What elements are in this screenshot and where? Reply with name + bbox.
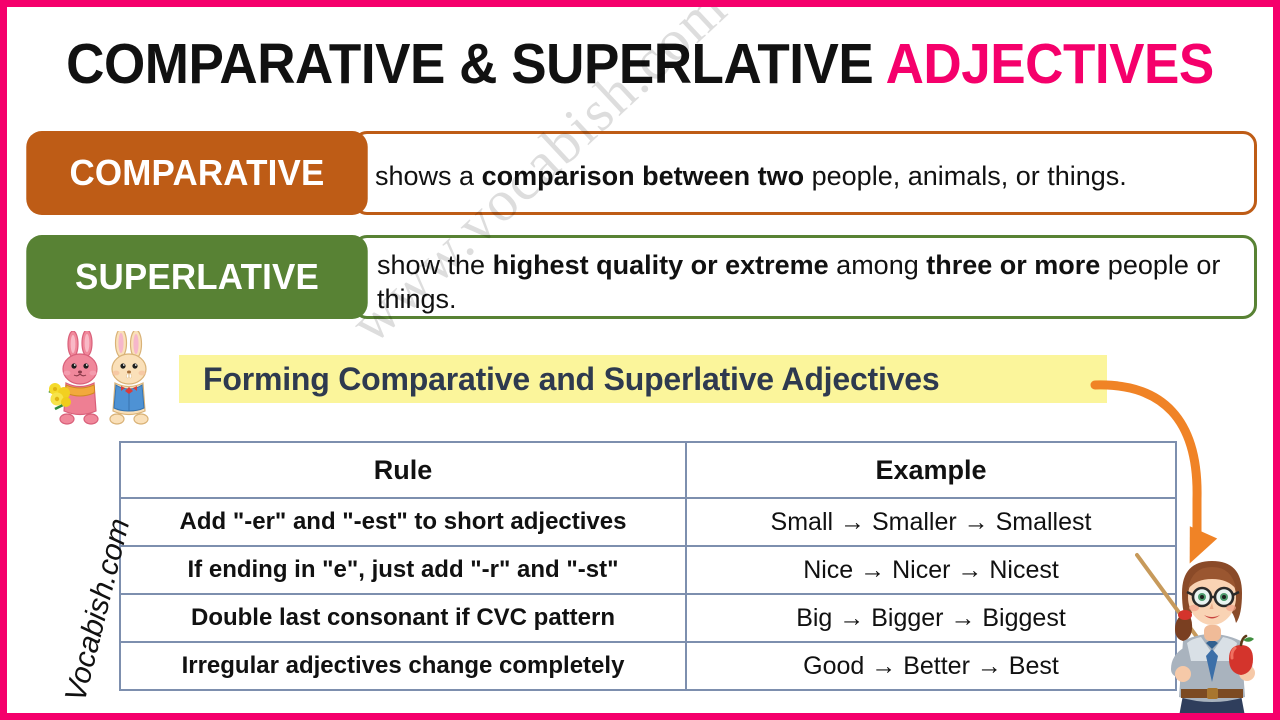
table-row: Double last consonant if CVC pattern Big… [120,594,1176,642]
rule-cell: If ending in "e", just add "-r" and "-st… [120,546,686,594]
rule-cell: Double last consonant if CVC pattern [120,594,686,642]
superlative-text-mid: among [829,250,927,280]
superlative-text-lead: show the [377,250,493,280]
infographic-page: www.vocabish.com Vocabish.com COMPARATIV… [0,0,1280,720]
title-part-accent: ADJECTIVES [886,32,1214,96]
badge-superlative: SUPERLATIVE [26,235,367,319]
definition-row-comparative: COMPARATIVE shows a comparison between t… [21,131,1257,215]
table-row: Irregular adjectives change completely G… [120,642,1176,690]
example-cell: Good → Better → Best [686,642,1176,690]
definition-row-superlative: SUPERLATIVE show the highest quality or … [21,235,1257,319]
table-header-row: Rule Example [120,442,1176,498]
section-heading: Forming Comparative and Superlative Adje… [179,355,1107,403]
column-header-rule: Rule [120,442,686,498]
rule-cell: Add "-er" and "-est" to short adjectives [120,498,686,546]
superlative-text-bold: highest quality or extreme [493,250,829,280]
example-cell: Big → Bigger → Biggest [686,594,1176,642]
comparative-text-bold: comparison between two [482,161,805,191]
table-row: Add "-er" and "-est" to short adjectives… [120,498,1176,546]
section-heading-label: Forming Comparative and Superlative Adje… [203,361,940,398]
two-rabbits-illustration [43,331,161,427]
rules-table: Rule Example Add "-er" and "-est" to sho… [119,441,1177,691]
table-row: If ending in "e", just add "-r" and "-st… [120,546,1176,594]
definition-text-comparative: shows a comparison between two people, a… [375,159,1243,193]
teacher-illustration [1135,545,1280,720]
page-title: COMPARATIVE & SUPERLATIVE ADJECTIVES [51,31,1228,97]
superlative-text-bold2: three or more [926,250,1100,280]
comparative-text-tail: people, animals, or things. [804,161,1127,191]
badge-comparative: COMPARATIVE [26,131,367,215]
comparative-text-lead: shows a [375,161,482,191]
rule-cell: Irregular adjectives change completely [120,642,686,690]
title-part-main: COMPARATIVE & SUPERLATIVE [66,32,885,96]
definition-text-superlative: show the highest quality or extreme amon… [377,248,1243,316]
